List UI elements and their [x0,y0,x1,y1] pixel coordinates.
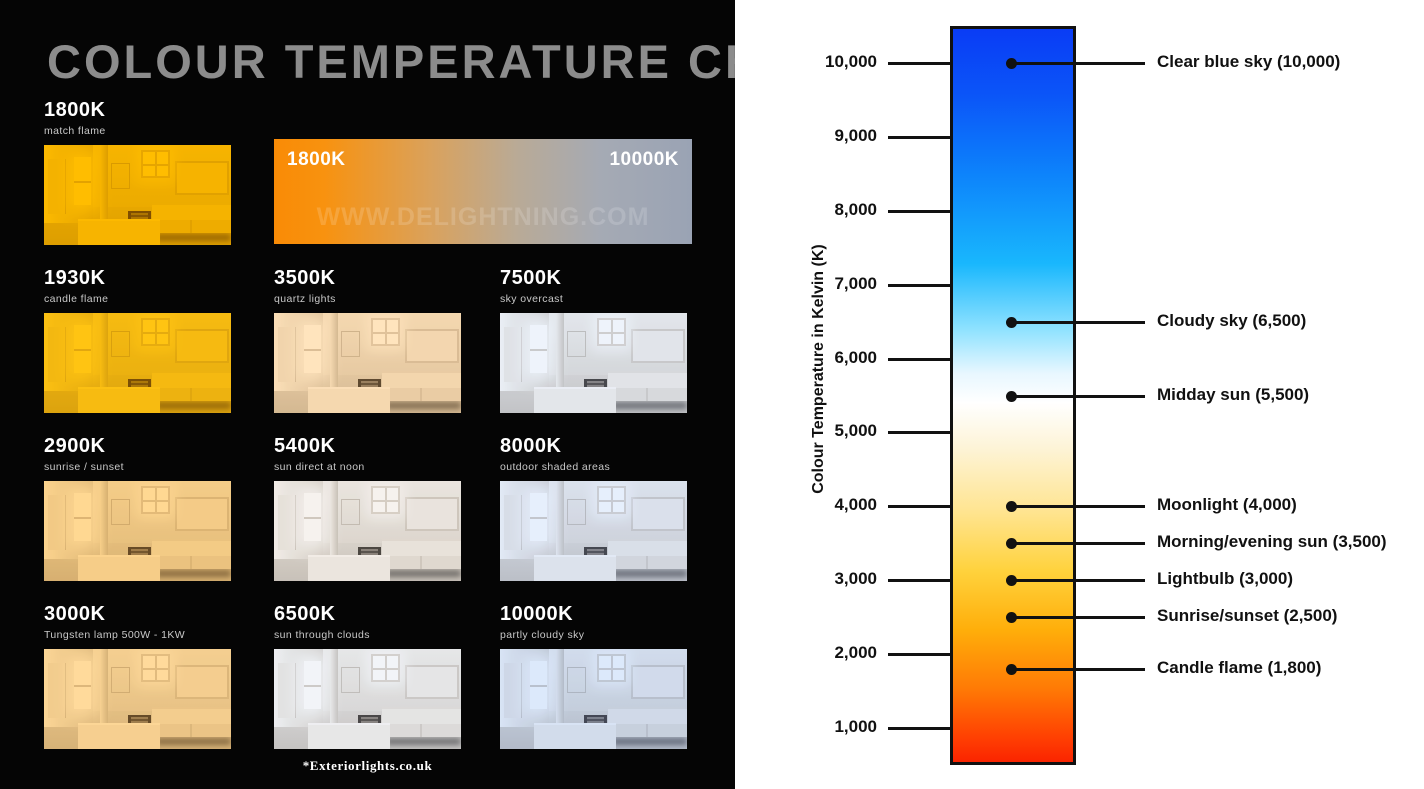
swatch-3000k: 3000KTungsten lamp 500W - 1KW [44,604,231,749]
swatch-7500k: 7500Ksky overcast [500,268,687,413]
callout-label: Moonlight (4,000) [1157,495,1297,515]
callout-label: Candle flame (1,800) [1157,658,1321,678]
swatch-kelvin-label: 8000K [500,436,687,456]
room-render-thumbnail [274,313,461,413]
callout-label: Clear blue sky (10,000) [1157,52,1340,72]
y-axis-tick [888,653,950,656]
swatch-6500k: 6500Ksun through clouds [274,604,461,749]
swatch-kelvin-label: 3000K [44,604,231,624]
y-axis-tick [888,431,950,434]
y-axis-tick [888,579,950,582]
swatch-10000k: 10000Kpartly cloudy sky [500,604,687,749]
room-render-thumbnail [500,313,687,413]
right-panel: Colour Temperature in Kelvin (K) 10,0009… [735,0,1424,789]
y-axis-title: Colour Temperature in Kelvin (K) [810,209,828,529]
swatch-description: Tungsten lamp 500W - 1KW [44,630,231,641]
y-axis-tick-label: 5,000 [757,421,877,441]
room-render-thumbnail [274,481,461,581]
swatch-kelvin-label: 1930K [44,268,231,288]
callout-label: Morning/evening sun (3,500) [1157,532,1387,552]
y-axis-tick-label: 2,000 [757,643,877,663]
swatch-kelvin-label: 2900K [44,436,231,456]
room-render-thumbnail [500,481,687,581]
y-axis-tick [888,136,950,139]
y-axis-tick [888,727,950,730]
room-render-thumbnail [500,649,687,749]
callout-label: Sunrise/sunset (2,500) [1157,606,1337,626]
y-axis-tick-label: 1,000 [757,717,877,737]
swatch-1930k: 1930Kcandle flame [44,268,231,413]
swatch-2900k: 2900Ksunrise / sunset [44,436,231,581]
callout-label: Lightbulb (3,000) [1157,569,1293,589]
room-render-thumbnail [44,145,231,245]
swatch-description: quartz lights [274,294,461,305]
swatch-kelvin-label: 3500K [274,268,461,288]
swatch-kelvin-label: 6500K [274,604,461,624]
swatch-description: outdoor shaded areas [500,462,687,473]
callout-marker-dot [1006,58,1017,69]
swatch-1800k: 1800Kmatch flame [44,100,231,245]
swatch-description: match flame [44,126,231,137]
callout-leader-line [1011,668,1145,671]
swatch-description: sun through clouds [274,630,461,641]
y-axis-tick [888,284,950,287]
y-axis-tick [888,358,950,361]
callout-leader-line [1011,321,1145,324]
y-axis-tick-label: 8,000 [757,200,877,220]
swatch-description: partly cloudy sky [500,630,687,641]
y-axis-tick [888,62,950,65]
left-panel: COLOUR TEMPERATURE CHART 1800K 10000K WW… [0,0,735,789]
callout-leader-line [1011,505,1145,508]
callout-leader-line [1011,616,1145,619]
callout-marker-dot [1006,391,1017,402]
y-axis-tick-label: 4,000 [757,495,877,515]
strip-max-label: 10000K [609,149,679,171]
room-render-thumbnail [44,481,231,581]
y-axis-tick-label: 7,000 [757,274,877,294]
swatch-kelvin-label: 5400K [274,436,461,456]
y-axis-tick-label: 9,000 [757,126,877,146]
y-axis-tick [888,210,950,213]
swatch-description: candle flame [44,294,231,305]
swatch-3500k: 3500Kquartz lights [274,268,461,413]
swatch-kelvin-label: 1800K [44,100,231,120]
callout-leader-line [1011,395,1145,398]
room-render-thumbnail [44,313,231,413]
strip-min-label: 1800K [287,149,346,171]
y-axis-tick-label: 6,000 [757,348,877,368]
callout-marker-dot [1006,317,1017,328]
room-render-thumbnail [44,649,231,749]
y-axis-tick [888,505,950,508]
temperature-gradient-strip: 1800K 10000K WWW.DELIGHTNING.COM [274,139,692,244]
colour-temperature-chart-page: COLOUR TEMPERATURE CHART 1800K 10000K WW… [0,0,1424,789]
swatch-description: sky overcast [500,294,687,305]
y-axis-tick-label: 3,000 [757,569,877,589]
callout-leader-line [1011,579,1145,582]
callout-leader-line [1011,542,1145,545]
callout-leader-line [1011,62,1145,65]
swatch-8000k: 8000Koutdoor shaded areas [500,436,687,581]
callout-label: Cloudy sky (6,500) [1157,311,1306,331]
swatch-description: sun direct at noon [274,462,461,473]
watermark: WWW.DELIGHTNING.COM [274,203,692,232]
callout-label: Midday sun (5,500) [1157,385,1309,405]
room-render-thumbnail [274,649,461,749]
swatch-kelvin-label: 10000K [500,604,687,624]
swatch-description: sunrise / sunset [44,462,231,473]
credit-line: *Exteriorlights.co.uk [0,758,735,774]
swatch-kelvin-label: 7500K [500,268,687,288]
y-axis-tick-label: 10,000 [757,52,877,72]
callout-marker-dot [1006,664,1017,675]
swatch-5400k: 5400Ksun direct at noon [274,436,461,581]
